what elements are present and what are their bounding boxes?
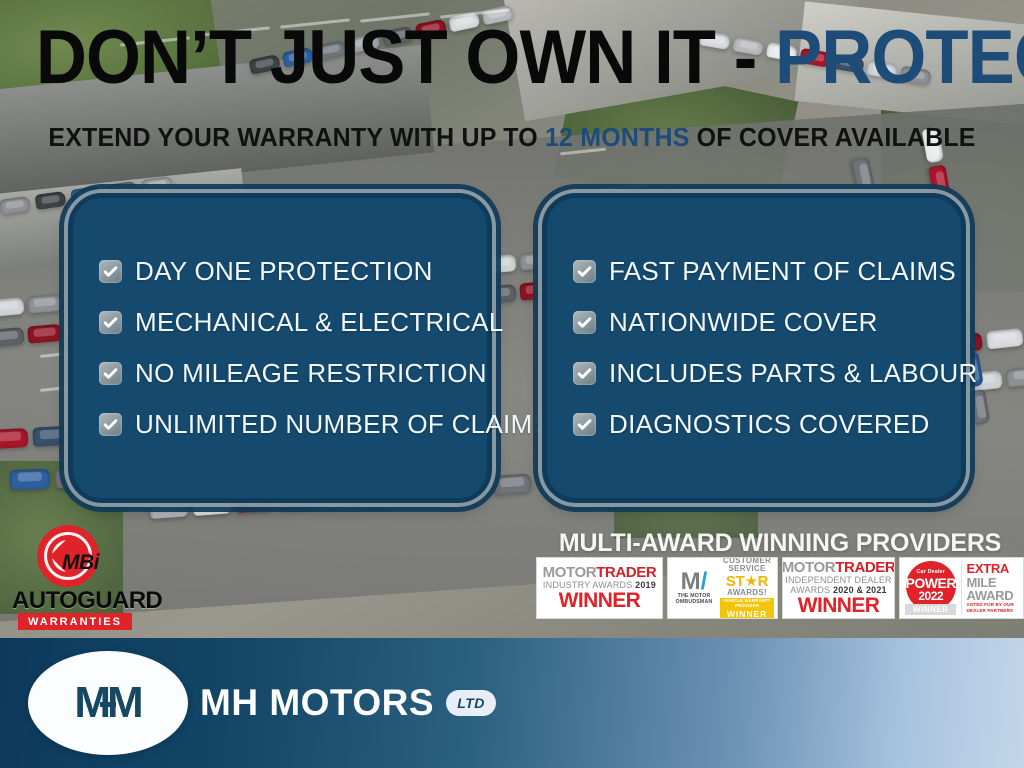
footer-bar: MM MH MOTORS LTD 35 YEARS IN BUSINESS xyxy=(0,638,1024,768)
badge2-ribbon-text: WINNER xyxy=(727,609,767,619)
customer-service-star-awards: CUSTOMER SERVICE ST★R AWARDS! VEHICLE WA… xyxy=(720,557,774,619)
feature-label: MECHANICAL & ELECTRICAL xyxy=(135,307,504,338)
background-car xyxy=(32,426,71,447)
background-car xyxy=(0,428,28,449)
checkmark-icon xyxy=(99,260,122,283)
badge2-line-d: AWARDS! xyxy=(727,589,767,598)
warranty-promo-banner: DON’T JUST OWN IT - PROTECT IT EXTEND YO… xyxy=(0,0,1024,768)
feature-item: UNLIMITED NUMBER OF CLAIMS xyxy=(89,399,471,450)
ltd-badge: LTD xyxy=(446,690,496,716)
extra-sub-2: DEALER PARTNERS xyxy=(966,608,1013,614)
autoguard-tagline-bar: WARRANTIES xyxy=(18,613,132,630)
badge2-star-text: ST★R xyxy=(726,574,768,589)
checkmark-icon xyxy=(573,413,596,436)
feature-item: FAST PAYMENT OF CLAIMS xyxy=(563,246,945,297)
feature-label: DIAGNOSTICS COVERED xyxy=(609,409,930,440)
badge2-winner-ribbon: VEHICLE WARRANTY PROVIDER WINNER xyxy=(720,598,774,619)
background-car xyxy=(1006,366,1024,388)
awards-heading: MULTI-AWARD WINNING PROVIDERS xyxy=(536,529,1024,558)
checkmark-icon xyxy=(573,260,596,283)
subtitle-highlight: 12 MONTHS xyxy=(545,122,690,152)
feature-label: NATIONWIDE COVER xyxy=(609,307,878,338)
background-car xyxy=(10,469,51,490)
award-badge-motortrader-industry-2019: MOTORTRADER INDUSTRY AWARDS 2019 WINNER xyxy=(536,557,663,619)
award-badge-customer-service-star: M/ THE MOTOR OMBUDSMAN CUSTOMER SERVICE … xyxy=(667,557,778,619)
checkmark-icon xyxy=(99,362,122,385)
checkmark-icon xyxy=(99,311,122,334)
extra-line-2: MILE xyxy=(966,576,996,589)
checkmark-icon xyxy=(573,362,596,385)
badge1-brand: MOTORTRADER xyxy=(543,565,657,580)
background-car xyxy=(27,294,62,314)
mhm-monogram: MM xyxy=(74,678,141,728)
feature-item: MECHANICAL & ELECTRICAL xyxy=(89,297,471,348)
subtitle-before: EXTEND YOUR WARRANTY WITH UP TO xyxy=(48,122,545,152)
autoguard-tagline: WARRANTIES xyxy=(28,616,122,628)
extra-line-3: AWARD xyxy=(966,589,1013,602)
award-badge-power-2022-extra-mile: Car Dealer POWER 2022 WINNER EXTRA MILE … xyxy=(899,557,1024,619)
mbi-wordmark: MBi xyxy=(62,551,99,575)
feature-panel-right: FAST PAYMENT OF CLAIMSNATIONWIDE COVERIN… xyxy=(542,193,966,503)
feature-label: FAST PAYMENT OF CLAIMS xyxy=(609,256,956,287)
feature-item: INCLUDES PARTS & LABOUR xyxy=(563,348,945,399)
autoguard-warranties-logo: MBi AUTOGUARD WARRANTIES xyxy=(12,525,138,629)
mhm-logo-badge: MM xyxy=(28,651,188,755)
award-badges-row: MOTORTRADER INDUSTRY AWARDS 2019 WINNER … xyxy=(536,557,1024,619)
headline-part-2: PROTECT IT xyxy=(775,15,1024,100)
feature-label: NO MILEAGE RESTRICTION xyxy=(135,358,487,389)
headline-part-1: DON’T JUST OWN IT - xyxy=(36,15,775,100)
feature-panel-left: DAY ONE PROTECTIONMECHANICAL & ELECTRICA… xyxy=(68,193,492,503)
extra-line-1: EXTRA xyxy=(966,562,1009,575)
background-car xyxy=(0,297,25,317)
ombudsman-m-icon: M/ xyxy=(681,571,708,593)
background-car xyxy=(0,327,25,347)
feature-label: UNLIMITED NUMBER OF CLAIMS xyxy=(135,409,550,440)
extra-mile-award: EXTRA MILE AWARD VOTED FOR BY OUR DEALER… xyxy=(961,562,1021,613)
badge3-brand: MOTORTRADER xyxy=(782,560,895,575)
feature-label: INCLUDES PARTS & LABOUR xyxy=(609,358,978,389)
feature-item: DIAGNOSTICS COVERED xyxy=(563,399,945,450)
badge3-status: WINNER xyxy=(798,595,880,616)
page-subtitle: EXTEND YOUR WARRANTY WITH UP TO 12 MONTH… xyxy=(20,122,1003,153)
checkmark-icon xyxy=(573,311,596,334)
feature-label: DAY ONE PROTECTION xyxy=(135,256,433,287)
power-year: 2022 xyxy=(918,590,943,602)
mhm-connector-bar xyxy=(100,702,116,707)
background-car xyxy=(986,328,1024,350)
badge1-status: WINNER xyxy=(559,590,641,611)
feature-item: DAY ONE PROTECTION xyxy=(89,246,471,297)
feature-item: NATIONWIDE COVER xyxy=(563,297,945,348)
power-ribbon: WINNER xyxy=(905,604,956,615)
autoguard-wordmark: AUTOGUARD xyxy=(12,587,138,615)
badge2-ribbon-small: VEHICLE WARRANTY PROVIDER xyxy=(720,598,774,609)
badge3-line2: INDEPENDENT DEALER xyxy=(785,575,891,585)
motor-ombudsman-logo: M/ THE MOTOR OMBUDSMAN xyxy=(671,571,717,605)
company-name-text: MH MOTORS xyxy=(200,682,434,724)
background-car xyxy=(492,473,531,495)
feature-item: NO MILEAGE RESTRICTION xyxy=(89,348,471,399)
award-badge-motortrader-independent-dealer: MOTORTRADER INDEPENDENT DEALER AWARDS 20… xyxy=(782,557,895,619)
checkmark-icon xyxy=(99,413,122,436)
page-title: DON’T JUST OWN IT - PROTECT IT xyxy=(36,22,988,94)
background-car xyxy=(27,324,62,344)
ombudsman-label: THE MOTOR OMBUDSMAN xyxy=(671,593,717,605)
car-dealer-power-2022: Car Dealer POWER 2022 WINNER xyxy=(902,561,959,615)
company-name: MH MOTORS LTD xyxy=(200,682,496,724)
subtitle-after: OF COVER AVAILABLE xyxy=(690,122,976,152)
power-main: POWER xyxy=(906,576,956,590)
